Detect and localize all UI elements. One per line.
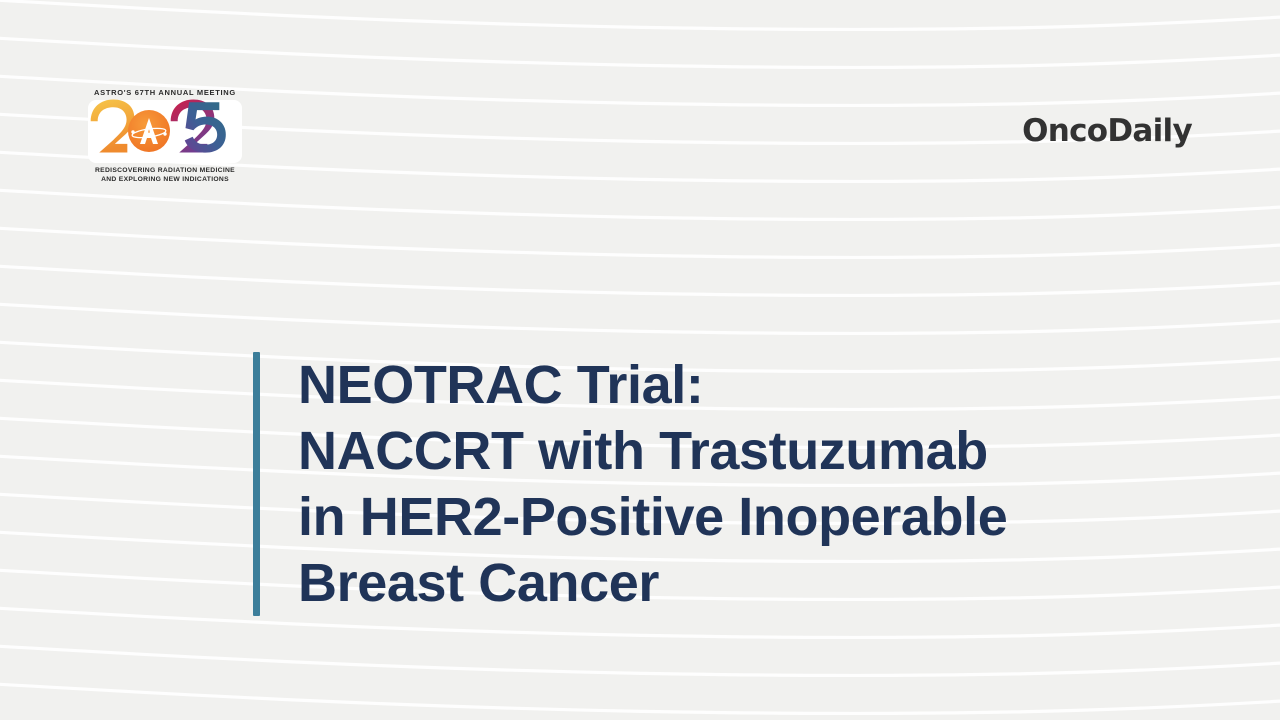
headline-block: NEOTRAC Trial: NACCRT with Trastuzumab i… bbox=[253, 352, 1007, 616]
slide-canvas: ASTRO'S 67TH ANNUAL MEETING bbox=[0, 0, 1280, 720]
title-line-1: NEOTRAC Trial: bbox=[298, 352, 1007, 418]
accent-bar bbox=[253, 352, 260, 616]
oncodaily-wordmark: OncoDaily bbox=[1022, 116, 1192, 147]
title-line-2: NACCRT with Trastuzumab bbox=[298, 418, 1007, 484]
page-title: NEOTRAC Trial: NACCRT with Trastuzumab i… bbox=[260, 352, 1007, 616]
title-line-4: Breast Cancer bbox=[298, 550, 1007, 616]
logo-digit-0-circle bbox=[128, 110, 170, 152]
title-line-3: in HER2-Positive Inoperable bbox=[298, 484, 1007, 550]
astro-logo-top-text: ASTRO'S 67TH ANNUAL MEETING bbox=[94, 88, 236, 97]
astro-logo-tagline-line2: AND EXPLORING NEW INDICATIONS bbox=[101, 176, 229, 183]
astro-2025-logo: ASTRO'S 67TH ANNUAL MEETING bbox=[85, 86, 245, 186]
astro-logo-tagline-line1: REDISCOVERING RADIATION MEDICINE bbox=[95, 167, 235, 174]
